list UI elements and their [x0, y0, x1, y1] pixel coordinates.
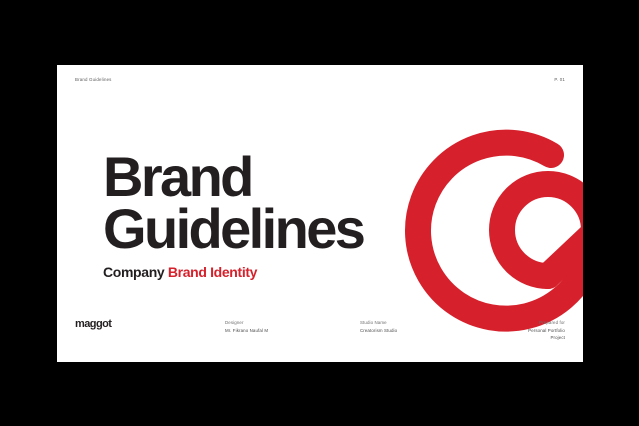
page-title-line-2: Guidelines: [103, 203, 363, 255]
footer-meta-label: Studio Name: [360, 319, 520, 327]
slide-header: Brand Guidelines P. 01: [75, 77, 565, 82]
footer-meta-value: Personal Portfolio Project: [520, 327, 565, 342]
footer-meta-value: Mr. Fikrano Naufal M: [225, 327, 360, 335]
footer-meta-studio: Studio Name Creatorism Studio: [360, 319, 520, 334]
footer-meta-label: Designer: [225, 319, 360, 327]
hero-block: Brand Guidelines Company Brand Identity: [103, 151, 363, 279]
slide-page-number: P. 01: [554, 77, 565, 82]
footer-meta-designer: Designer Mr. Fikrano Naufal M: [225, 319, 360, 334]
page-subtitle-accent: Brand Identity: [168, 264, 257, 280]
studio-wordmark: maggot: [75, 319, 225, 330]
presentation-slide: Brand Guidelines P. 01 Brand Guidelines: [57, 65, 583, 362]
footer-wordmark-block: maggot: [75, 319, 225, 330]
page-title: Brand Guidelines: [103, 151, 363, 254]
footer-meta-label: Prepared for: [520, 319, 565, 327]
screenshot-stage: Brand Guidelines P. 01 Brand Guidelines: [0, 0, 639, 426]
slide-header-label: Brand Guidelines: [75, 77, 112, 82]
brand-logo-mark: [391, 119, 583, 349]
page-subtitle: Company Brand Identity: [103, 265, 363, 279]
footer-meta-prepared-for: Prepared for Personal Portfolio Project: [520, 319, 565, 342]
footer-meta-value: Creatorism Studio: [360, 327, 520, 335]
page-subtitle-plain: Company: [103, 264, 168, 280]
slide-footer: maggot Designer Mr. Fikrano Naufal M Stu…: [75, 319, 565, 342]
